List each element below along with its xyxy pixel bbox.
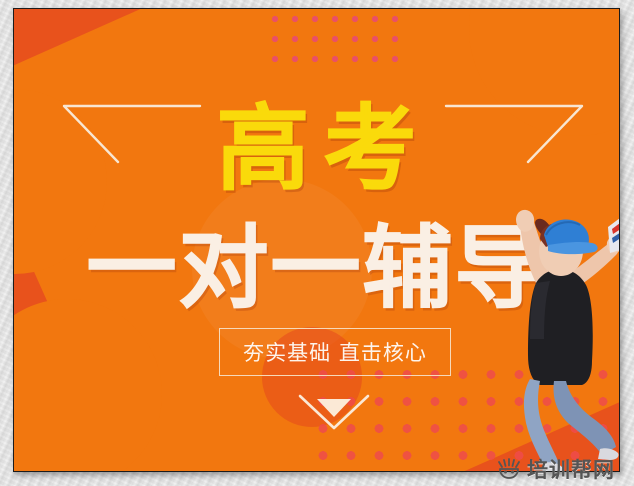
held-object xyxy=(608,215,620,253)
jumping-student-illustration xyxy=(496,205,620,472)
chevron-down-icon xyxy=(297,392,371,432)
dot-pattern-top xyxy=(265,9,407,73)
tagline-box: 夯实基础 直击核心 xyxy=(219,328,451,376)
poster-canvas: 高考 一对一辅导 夯实基础 直击核心 xyxy=(13,8,620,472)
watermark: 培训帮网 xyxy=(497,454,615,484)
poster-headline: 高考 xyxy=(14,103,619,196)
watermark-text: 培训帮网 xyxy=(527,454,615,484)
image-frame: 高考 一对一辅导 夯实基础 直击核心 xyxy=(0,0,634,486)
smiley-sun-icon xyxy=(497,458,521,480)
tagline-text: 夯实基础 直击核心 xyxy=(243,337,427,367)
